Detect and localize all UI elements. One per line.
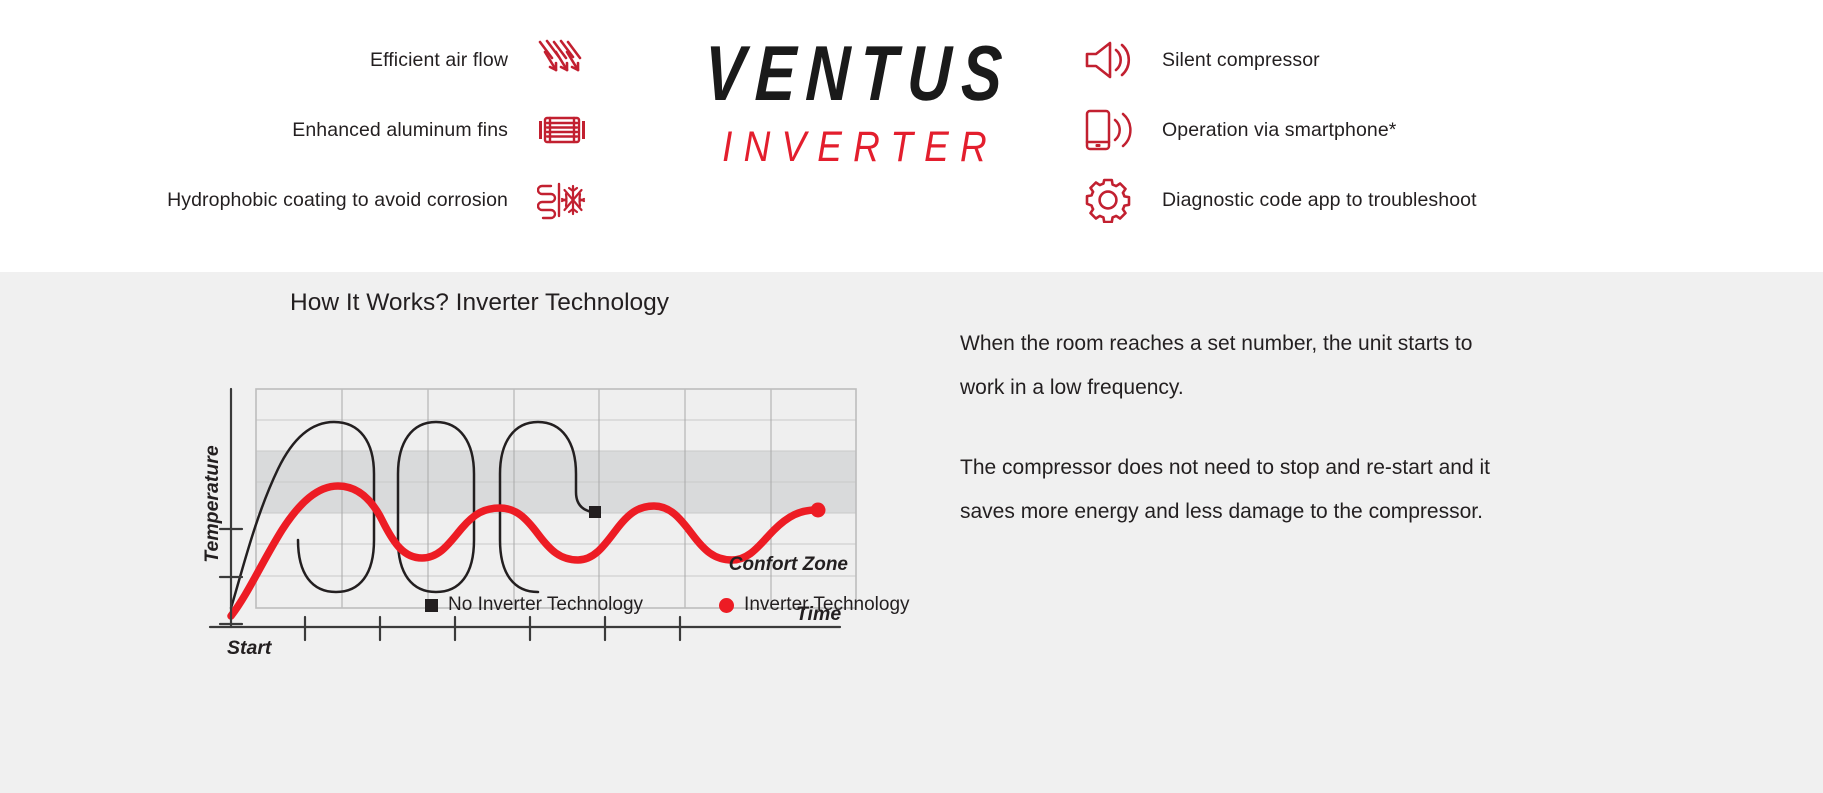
features-left-column: Efficient air flow Enhanced aluminum fin… xyxy=(120,28,590,238)
smartphone-icon xyxy=(1080,105,1136,155)
legend-item-inverter: Inverter Technology xyxy=(719,594,909,616)
square-marker-icon xyxy=(425,599,438,612)
feature-item-aluminum-fins: Enhanced aluminum fins xyxy=(120,98,590,162)
hydrophobic-coating-icon xyxy=(534,175,590,225)
feature-band: Efficient air flow Enhanced aluminum fin… xyxy=(0,0,1823,272)
air-flow-icon xyxy=(534,35,590,85)
aluminum-fins-icon xyxy=(534,105,590,155)
no-inverter-endpoint-marker xyxy=(589,506,601,518)
feature-item-smartphone-operation: Operation via smartphone* xyxy=(1080,98,1640,162)
inverter-technology-chart: How It Works? Inverter Technology xyxy=(200,272,900,672)
feature-label: Silent compressor xyxy=(1162,49,1320,72)
feature-label: Operation via smartphone* xyxy=(1162,119,1396,142)
speaker-icon xyxy=(1080,35,1136,85)
feature-item-hydrophobic-coating: Hydrophobic coating to avoid corrosion xyxy=(120,168,590,232)
legend-label: No Inverter Technology xyxy=(448,594,643,616)
how-it-works-panel: How It Works? Inverter Technology xyxy=(0,272,1823,793)
x-axis xyxy=(210,617,840,640)
inverter-end-marker xyxy=(811,503,826,518)
feature-label: Diagnostic code app to troubleshoot xyxy=(1162,189,1477,212)
circle-marker-icon xyxy=(719,598,734,613)
chart-legend: No Inverter Technology Inverter Technolo… xyxy=(425,594,910,616)
feature-label: Hydrophobic coating to avoid corrosion xyxy=(167,189,508,212)
description-block: When the room reaches a set number, the … xyxy=(960,322,1520,534)
features-right-column: Silent compressor Operation via smartpho… xyxy=(1080,28,1640,238)
feature-item-silent-compressor: Silent compressor xyxy=(1080,28,1640,92)
y-axis-label: Temperature xyxy=(201,445,223,563)
ventus-inverter-logo: VENTUS INVERTER xyxy=(660,34,1060,169)
gear-icon xyxy=(1080,175,1136,225)
legend-item-no-inverter: No Inverter Technology xyxy=(425,594,643,616)
feature-item-efficient-air-flow: Efficient air flow xyxy=(120,28,590,92)
description-paragraph-1: When the room reaches a set number, the … xyxy=(960,322,1520,410)
legend-label: Inverter Technology xyxy=(744,594,909,616)
logo-secondary-text: INVERTER xyxy=(688,126,1032,169)
comfort-zone-label: Confort Zone xyxy=(729,554,849,575)
start-label: Start xyxy=(227,637,273,659)
feature-label: Enhanced aluminum fins xyxy=(292,119,508,142)
feature-label: Efficient air flow xyxy=(370,49,508,72)
feature-item-diagnostic-code-app: Diagnostic code app to troubleshoot xyxy=(1080,168,1640,232)
description-paragraph-2: The compressor does not need to stop and… xyxy=(960,446,1520,534)
logo-primary-text: VENTUS xyxy=(701,34,1016,112)
